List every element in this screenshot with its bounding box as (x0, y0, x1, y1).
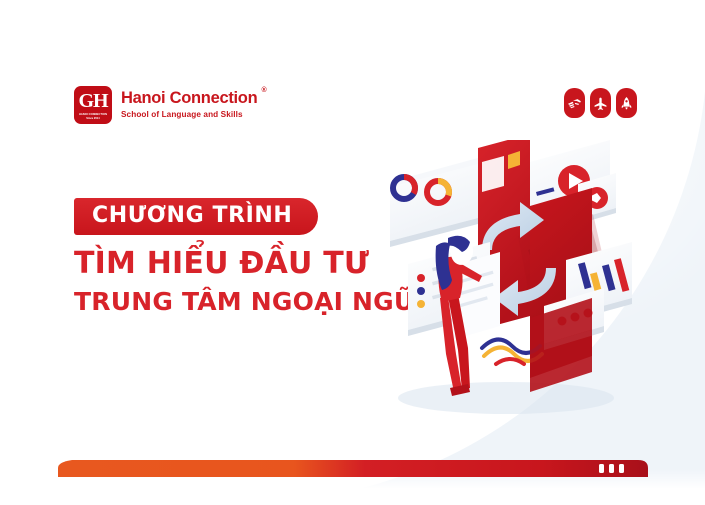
scene-shadow (398, 382, 614, 414)
donut-chart-panel (390, 158, 478, 247)
rocket-icon (619, 96, 634, 111)
headline-ribbon-text: CHƯƠNG TRÌNH (92, 205, 292, 227)
headline-line-2: TÌM HIỂU ĐẦU TƯ (74, 248, 404, 280)
brand-tagline: School of Language and Skills (121, 110, 257, 120)
logo-badge-line2: Since 2014 (86, 117, 99, 121)
handshake-icon (567, 96, 582, 111)
brand-name-wrapper: Hanoi Connection ® (121, 90, 257, 107)
progress-bar-ticks (599, 464, 624, 473)
brand-logo[interactable]: GH HANOI CONNECTION Since 2014 Hanoi Con… (74, 86, 257, 124)
brand-name: Hanoi Connection (121, 89, 257, 107)
registered-trademark-icon: ® (262, 87, 267, 94)
logo-mark-icon: GH HANOI CONNECTION Since 2014 (74, 86, 112, 124)
headline-ribbon: CHƯƠNG TRÌNH (74, 198, 318, 235)
headline-line-3: TRUNG TÂM NGOẠI NGỮ (74, 289, 404, 315)
brand-logo-text: Hanoi Connection ® School of Language an… (121, 90, 257, 119)
progress-bar-fill (58, 460, 648, 477)
logo-monogram: GH (78, 91, 107, 111)
airplane-icon (593, 96, 608, 111)
badge-group (564, 88, 637, 118)
hero-illustration (378, 140, 648, 420)
badge-airplane[interactable] (590, 88, 611, 118)
badge-rocket[interactable] (616, 88, 637, 118)
badge-handshake[interactable] (564, 88, 585, 118)
progress-bar (58, 460, 648, 477)
headline-block: CHƯƠNG TRÌNH TÌM HIỂU ĐẦU TƯ TRUNG TÂM N… (74, 198, 404, 315)
slide-root: GH HANOI CONNECTION Since 2014 Hanoi Con… (0, 0, 705, 505)
